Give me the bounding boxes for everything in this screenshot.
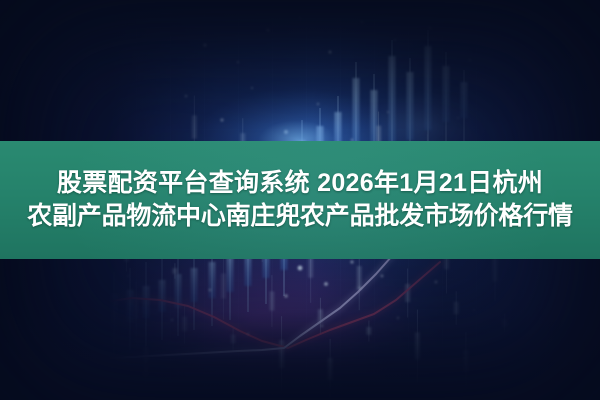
candlestick-background [366,321,371,342]
candlestick [111,272,118,356]
trend-line-glow [52,262,440,348]
candlestick-background [502,314,507,332]
candlestick-background [221,252,226,319]
candlestick-background [41,262,46,308]
candlestick-background [405,269,410,318]
sparkle-dot [499,33,501,35]
sparkle-dot [251,87,253,89]
sparkle-dot [95,299,98,302]
trend-line [52,262,440,348]
sparkle-dot [397,317,399,319]
candlestick-background [231,327,236,351]
candlestick [95,280,102,360]
candlestick-background [143,323,148,400]
candlestick [461,70,468,142]
candlestick-background [328,339,333,399]
sparkle-dot [359,287,362,290]
candlestick-background [51,303,56,373]
candlestick-background [182,304,187,343]
candlestick-background [85,259,90,329]
candlestick-background [134,282,139,337]
sparkle-dot [284,294,288,298]
sparkle-dot [469,59,471,61]
candlestick-background [46,311,51,353]
candlestick-background [95,334,100,361]
candlestick [47,296,54,372]
sparkle-dot [429,27,432,30]
sparkle-dot [361,21,363,23]
candlestick [63,286,70,380]
sparkle-dot [350,260,353,263]
sparkle-dot [220,118,223,121]
headline-line-1: 股票配资平台查询系统 2026年1月21日杭州 [57,169,543,199]
promo-banner-image: 股票配资平台查询系统 2026年1月21日杭州 农副产品物流中心南庄兜农产品批发… [0,0,600,400]
sparkle-dot [457,117,459,119]
sparkle-dot [171,319,174,322]
candlestick-background [279,316,284,392]
candlestick-background [454,291,459,325]
headline-banner: 股票配资平台查询系统 2026年1月21日杭州 农副产品物流中心南庄兜农产品批发… [0,141,600,259]
sparkle-dot [321,325,324,328]
sparkle-dot [317,103,319,105]
candlestick [15,318,22,392]
sparkle-dot [324,282,328,286]
candlestick [143,262,150,346]
sparkle-dot [237,61,239,63]
candlestick-background [269,275,274,327]
sparkle-dot [185,95,188,98]
sparkle-dot [387,111,389,113]
candlestick-background [463,332,468,389]
candlestick [127,268,134,350]
sparkle-dot [435,281,438,284]
sparkle-dot [247,333,249,335]
sparkle-dot [381,275,384,278]
sparkle-dot [63,351,65,353]
candlestick-background [318,298,323,334]
candlestick-background [172,263,177,278]
sparkle-dot [329,51,332,54]
candlestick [159,256,166,340]
sparkle-dot [127,275,129,277]
candlestick [31,306,38,378]
candlestick [425,30,432,158]
sparkle-dot [299,17,301,19]
candlestick-background [37,270,42,288]
candlestick-background [8,113,13,127]
candlestick-background [415,310,420,383]
sparkle-dot [298,266,303,271]
candlestick [443,52,450,150]
sparkle-dot [473,309,475,311]
candlestick [175,250,182,336]
sparkle-dot [267,29,270,32]
candlestick [79,292,86,368]
sparkle-dot [284,130,288,134]
sparkle-dot [209,289,212,292]
sparkle-dot [203,43,206,46]
sparkle-dot [394,39,396,41]
headline-line-2: 农副产品物流中心南庄兜农产品批发市场价格行情 [27,202,573,232]
